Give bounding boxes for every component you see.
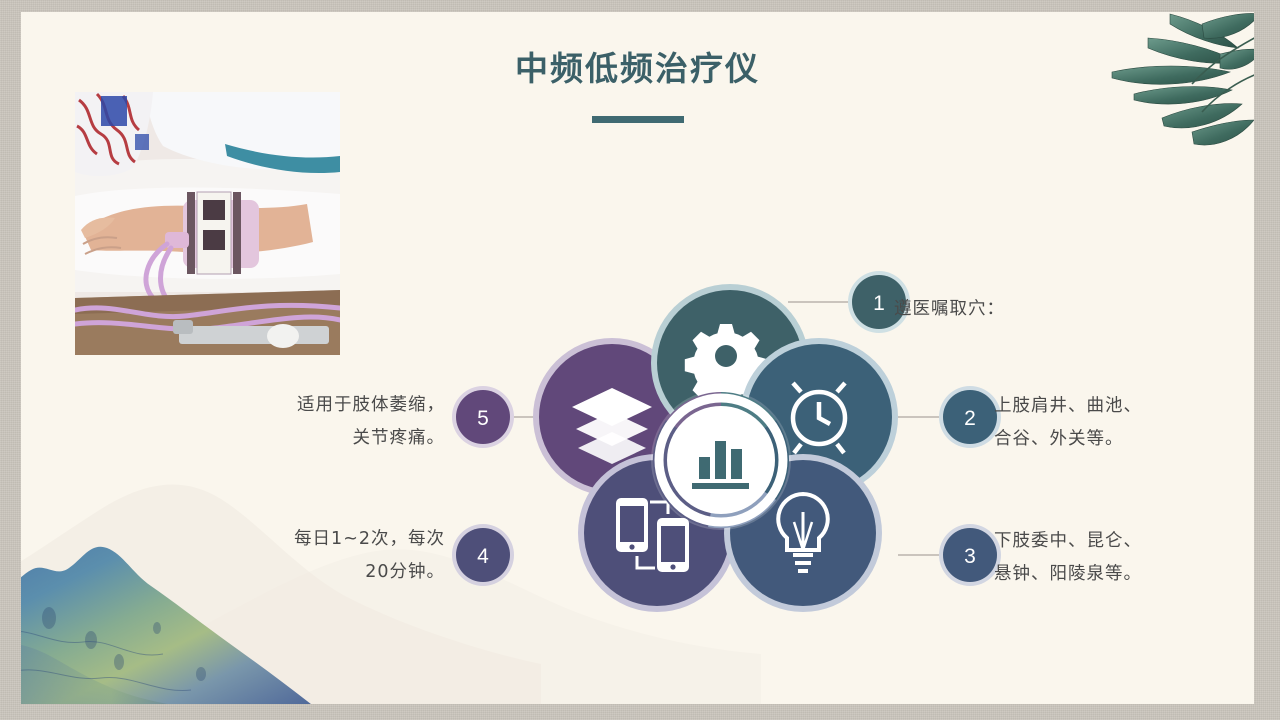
slide-canvas: 中频低频治疗仪 <box>0 0 1280 720</box>
diagram-center[interactable] <box>651 390 791 530</box>
badge-5[interactable]: 5 <box>452 386 514 448</box>
treatment-photo <box>75 92 340 355</box>
patient-forearm-photo-icon <box>75 92 340 355</box>
label-item-5: 适用于肢体萎缩， 关节疼痛。 <box>253 389 445 455</box>
badge-2[interactable]: 2 <box>939 386 1001 448</box>
badge-4-number: 4 <box>477 545 489 568</box>
badge-1-number: 1 <box>873 292 885 315</box>
badge-5-number: 5 <box>477 407 489 430</box>
badge-3[interactable]: 3 <box>939 524 1001 586</box>
label-item-3: 下肢委中、昆仑、 悬钟、阳陵泉等。 <box>994 525 1234 591</box>
badge-2-number: 2 <box>964 407 976 430</box>
bamboo-leaves-icon <box>1052 12 1254 156</box>
title-underline-rule <box>592 116 684 123</box>
label-item-4: 每日1~2次，每次 20分钟。 <box>253 523 445 589</box>
label-item-2: 上肢肩井、曲池、 合谷、外关等。 <box>994 390 1234 456</box>
label-item-1: 遵医嘱取穴： <box>894 293 1144 326</box>
badge-3-number: 3 <box>964 545 976 568</box>
slide-page: 中频低频治疗仪 <box>21 12 1254 704</box>
badge-4[interactable]: 4 <box>452 524 514 586</box>
